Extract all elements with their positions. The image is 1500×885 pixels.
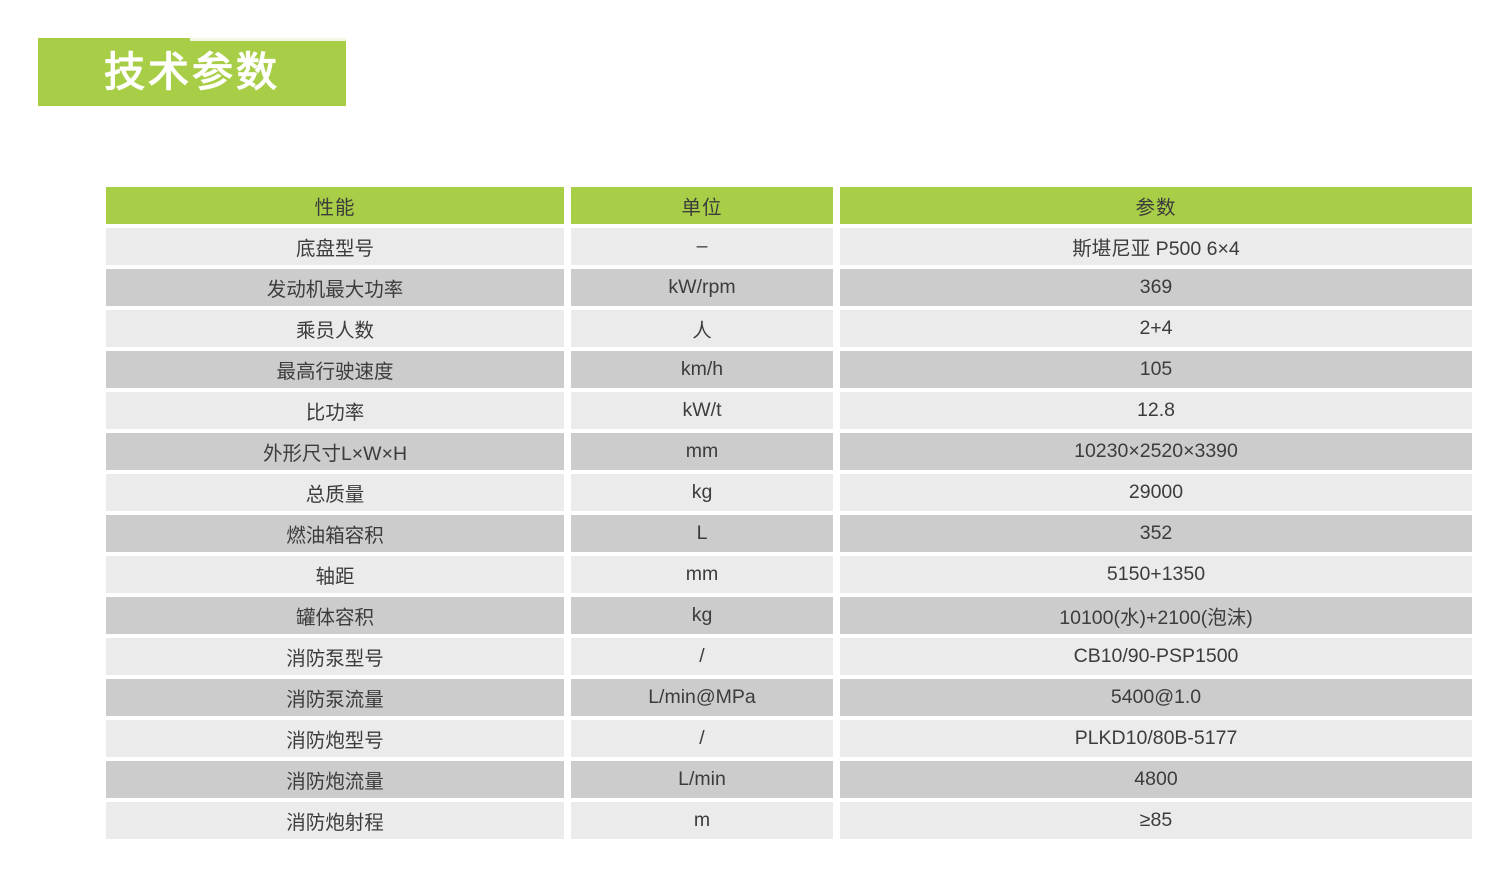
cell-unit: mm — [571, 433, 833, 470]
cell-unit: kg — [571, 474, 833, 511]
cell-unit: – — [571, 228, 833, 265]
cell-parameter: 斯堪尼亚 P500 6×4 — [840, 228, 1472, 265]
cell-parameter: 29000 — [840, 474, 1472, 511]
cell-unit: km/h — [571, 351, 833, 388]
cell-unit: kW/t — [571, 392, 833, 429]
column-header-unit: 单位 — [571, 187, 833, 224]
cell-parameter: 10100(水)+2100(泡沫) — [840, 597, 1472, 634]
table-row: 总质量kg29000 — [106, 474, 1472, 511]
cell-performance: 罐体容积 — [106, 597, 564, 634]
cell-unit: mm — [571, 556, 833, 593]
cell-unit: L/min — [571, 761, 833, 798]
cell-parameter: CB10/90-PSP1500 — [840, 638, 1472, 675]
cell-parameter: 5400@1.0 — [840, 679, 1472, 716]
cell-unit: kW/rpm — [571, 269, 833, 306]
cell-performance: 比功率 — [106, 392, 564, 429]
page-title: 技术参数 — [104, 52, 280, 93]
cell-parameter: 10230×2520×3390 — [840, 433, 1472, 470]
table-row: 消防泵型号/CB10/90-PSP1500 — [106, 638, 1472, 675]
cell-performance: 发动机最大功率 — [106, 269, 564, 306]
cell-parameter: PLKD10/80B-5177 — [840, 720, 1472, 757]
cell-unit: L/min@MPa — [571, 679, 833, 716]
cell-performance: 外形尺寸L×W×H — [106, 433, 564, 470]
table-row: 轴距mm5150+1350 — [106, 556, 1472, 593]
cell-parameter: 12.8 — [840, 392, 1472, 429]
cell-unit: / — [571, 638, 833, 675]
table-row: 发动机最大功率kW/rpm369 — [106, 269, 1472, 306]
cell-unit: kg — [571, 597, 833, 634]
cell-parameter: 4800 — [840, 761, 1472, 798]
column-header-performance: 性能 — [106, 187, 564, 224]
cell-performance: 轴距 — [106, 556, 564, 593]
cell-performance: 总质量 — [106, 474, 564, 511]
cell-unit: / — [571, 720, 833, 757]
spec-table-container: 性能 单位 参数 底盘型号–斯堪尼亚 P500 6×4发动机最大功率kW/rpm… — [106, 187, 1458, 839]
table-row: 外形尺寸L×W×Hmm10230×2520×3390 — [106, 433, 1472, 470]
technical-specification-table: 性能 单位 参数 底盘型号–斯堪尼亚 P500 6×4发动机最大功率kW/rpm… — [99, 183, 1479, 843]
cell-unit: 人 — [571, 310, 833, 347]
cell-performance: 消防泵流量 — [106, 679, 564, 716]
table-row: 底盘型号–斯堪尼亚 P500 6×4 — [106, 228, 1472, 265]
cell-performance: 乘员人数 — [106, 310, 564, 347]
column-header-parameter: 参数 — [840, 187, 1472, 224]
table-row: 最高行驶速度km/h105 — [106, 351, 1472, 388]
cell-performance: 底盘型号 — [106, 228, 564, 265]
cell-performance: 最高行驶速度 — [106, 351, 564, 388]
table-body: 底盘型号–斯堪尼亚 P500 6×4发动机最大功率kW/rpm369乘员人数人2… — [106, 228, 1472, 839]
cell-performance: 燃油箱容积 — [106, 515, 564, 552]
table-row: 燃油箱容积L352 — [106, 515, 1472, 552]
table-header: 性能 单位 参数 — [106, 187, 1472, 224]
cell-parameter: 5150+1350 — [840, 556, 1472, 593]
table-row: 消防炮射程m≥85 — [106, 802, 1472, 839]
cell-parameter: 2+4 — [840, 310, 1472, 347]
table-row: 消防泵流量L/min@MPa5400@1.0 — [106, 679, 1472, 716]
table-row: 消防炮型号/PLKD10/80B-5177 — [106, 720, 1472, 757]
cell-parameter: 369 — [840, 269, 1472, 306]
cell-performance: 消防炮流量 — [106, 761, 564, 798]
cell-performance: 消防泵型号 — [106, 638, 564, 675]
cell-unit: L — [571, 515, 833, 552]
table-row: 罐体容积kg10100(水)+2100(泡沫) — [106, 597, 1472, 634]
cell-performance: 消防炮射程 — [106, 802, 564, 839]
table-row: 乘员人数人2+4 — [106, 310, 1472, 347]
cell-parameter: 105 — [840, 351, 1472, 388]
cell-performance: 消防炮型号 — [106, 720, 564, 757]
table-header-row: 性能 单位 参数 — [106, 187, 1472, 224]
cell-parameter: ≥85 — [840, 802, 1472, 839]
cell-unit: m — [571, 802, 833, 839]
cell-parameter: 352 — [840, 515, 1472, 552]
table-row: 消防炮流量L/min4800 — [106, 761, 1472, 798]
table-row: 比功率kW/t12.8 — [106, 392, 1472, 429]
page-title-banner: 技术参数 — [38, 38, 346, 106]
